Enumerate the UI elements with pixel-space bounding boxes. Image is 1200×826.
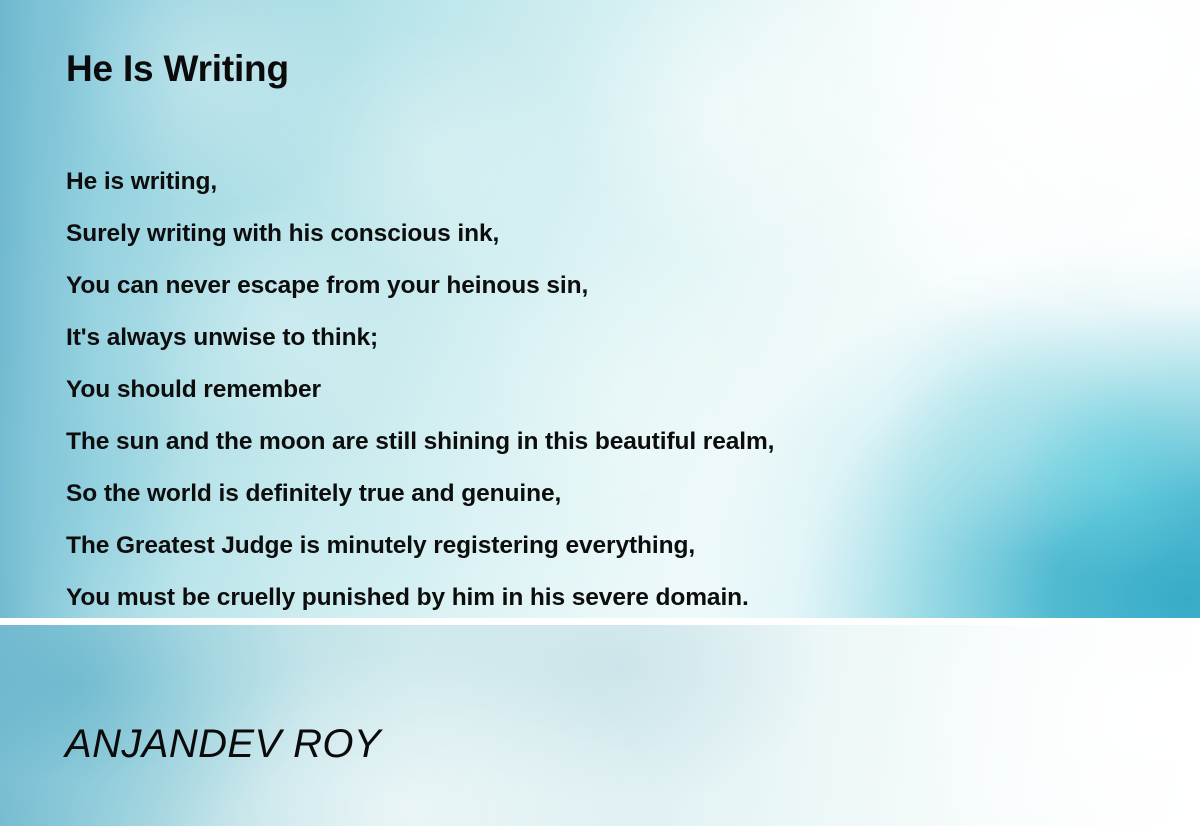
poem-line: You can never escape from your heinous s… [66,260,1126,312]
poem-poster: He Is Writing He is writing, Surely writ… [0,0,1200,826]
poem-line: You should remember [66,364,1126,416]
poem-line: You must be cruelly punished by him in h… [66,572,1126,618]
poem-body: He is writing, Surely writing with his c… [66,156,1126,618]
poem-line: So the world is definitely true and genu… [66,468,1126,520]
poem-panel: He Is Writing He is writing, Surely writ… [0,0,1200,618]
poem-line: Surely writing with his conscious ink, [66,208,1126,260]
author-name: ANJANDEV ROY [65,722,381,767]
poem-title: He Is Writing [66,48,289,90]
poem-line: It's always unwise to think; [66,312,1126,364]
poem-line: The sun and the moon are still shining i… [66,416,1126,468]
poem-line: The Greatest Judge is minutely registeri… [66,520,1126,572]
poem-line: He is writing, [66,156,1126,208]
